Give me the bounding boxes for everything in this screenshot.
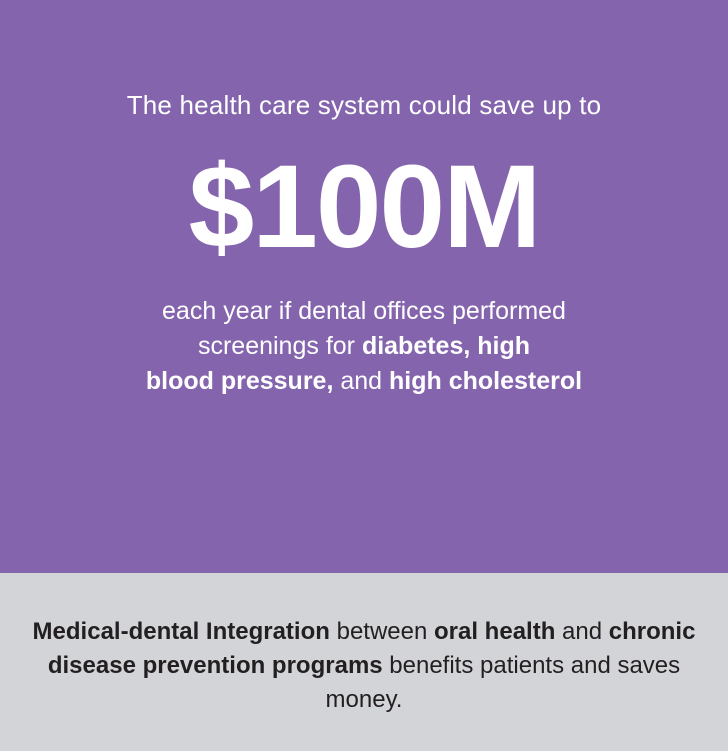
hero-body-line-1-text: each year if dental offices performed [162, 297, 566, 325]
caption-statement: Medical-dental Integration between oral … [26, 615, 702, 717]
caption-panel: Medical-dental Integration between oral … [0, 573, 728, 751]
caption-emphasis-a: Medical-dental Integration [33, 618, 330, 645]
caption-regular-b: and [555, 618, 608, 645]
hero-body-line-3: blood pressure, and high cholesterol [64, 364, 664, 399]
hero-body-text: each year if dental offices performed sc… [64, 294, 664, 399]
infographic-canvas: The health care system could save up to … [0, 0, 728, 751]
hero-kicker-text: The health care system could save up to [0, 88, 728, 122]
hero-body-line-2-regular: screenings for [198, 332, 362, 360]
hero-savings-figure: $100M [0, 145, 728, 269]
hero-body-line-3-emphasis-b: high cholesterol [389, 367, 582, 395]
hero-body-line-2: screenings for diabetes, high [64, 329, 664, 364]
caption-emphasis-b: oral health [434, 618, 555, 645]
hero-body-line-2-emphasis: diabetes, high [362, 332, 530, 360]
hero-body-line-3-regular: and [333, 367, 389, 395]
hero-body-line-3-emphasis-a: blood pressure, [146, 367, 334, 395]
caption-regular-a: between [330, 618, 434, 645]
hero-panel: The health care system could save up to … [0, 0, 728, 573]
hero-body-line-1: each year if dental offices performed [64, 294, 664, 329]
